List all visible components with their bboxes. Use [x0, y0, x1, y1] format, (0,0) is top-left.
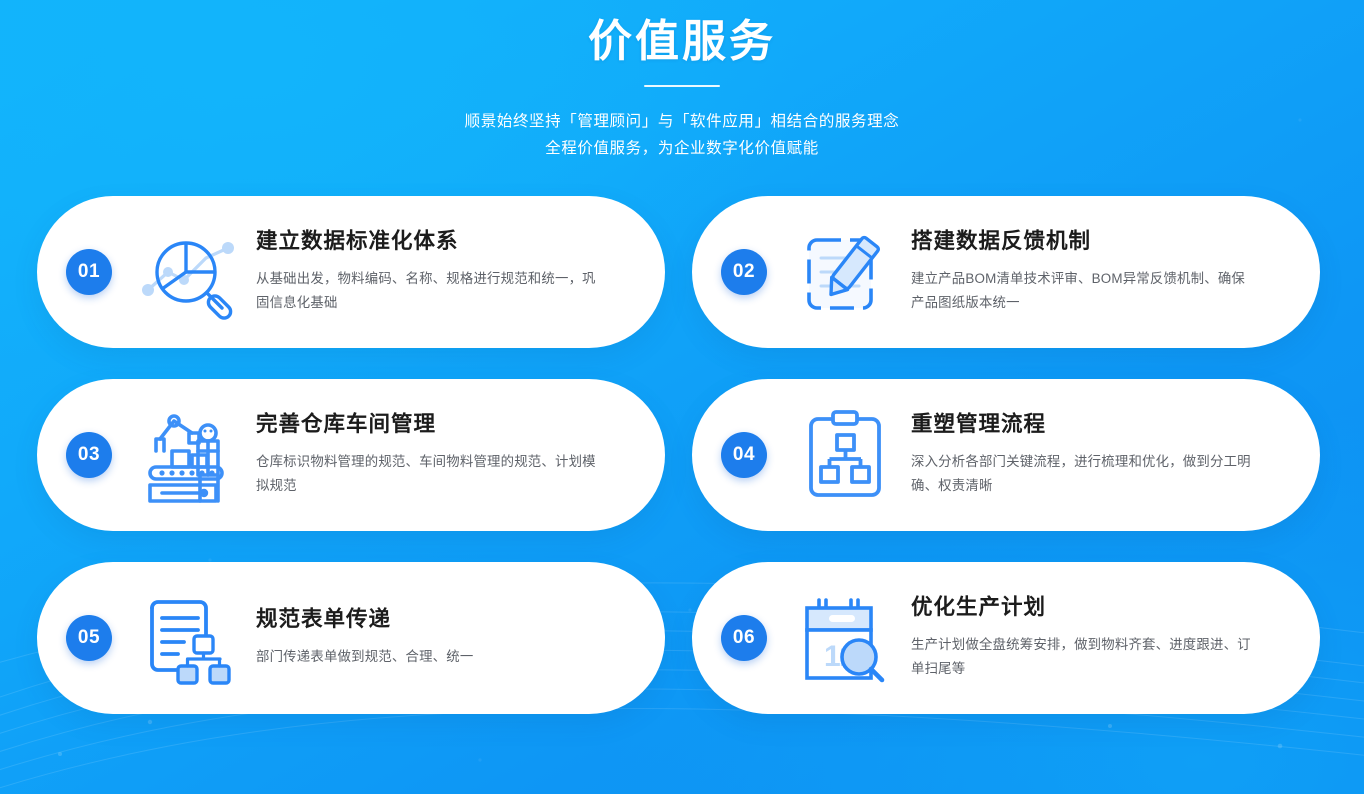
page-title: 价值服务 [0, 14, 1364, 69]
document-pencil-icon [789, 220, 901, 324]
service-card[interactable]: 03 [37, 379, 665, 531]
card-text: 规范表单传递 部门传递表单做到规范、合理、统一 [256, 607, 665, 670]
card-number-badge: 01 [66, 249, 112, 295]
factory-worker-icon [134, 403, 246, 507]
card-description: 部门传递表单做到规范、合理、统一 [256, 645, 601, 669]
card-text: 完善仓库车间管理 仓库标识物料管理的规范、车间物料管理的规范、计划模拟规范 [256, 412, 665, 499]
document-flowchart-icon [134, 586, 246, 690]
calendar-search-icon: 11 [789, 586, 901, 690]
card-title: 优化生产计划 [911, 595, 1290, 621]
card-number-badge: 05 [66, 615, 112, 661]
service-card[interactable]: 02 搭建数据反馈机制 建立产品BOM清单技术评审、BOM异常反馈机制、确保 [692, 196, 1320, 348]
value-services-page: 价值服务 顺景始终坚持「管理顾问」与「软件应用」相结合的服务理念 全程价值服务，… [0, 0, 1364, 794]
card-number-badge: 03 [66, 432, 112, 478]
card-text: 重塑管理流程 深入分析各部门关键流程，进行梳理和优化，做到分工明确、权责清晰 [911, 412, 1320, 499]
card-text: 优化生产计划 生产计划做全盘统筹安排，做到物料齐套、进度跟进、订单扫尾等 [911, 595, 1320, 682]
card-text: 建立数据标准化体系 从基础出发，物料编码、名称、规格进行规范和统一，巩固信息化基… [256, 229, 665, 316]
service-card[interactable]: 05 [37, 562, 665, 714]
clipboard-flowchart-icon [789, 403, 901, 507]
card-title: 规范表单传递 [256, 607, 635, 633]
card-number-badge: 04 [721, 432, 767, 478]
card-number-badge: 02 [721, 249, 767, 295]
card-number-badge: 06 [721, 615, 767, 661]
pie-chart-search-icon [134, 220, 246, 324]
card-title: 建立数据标准化体系 [256, 229, 635, 255]
service-card[interactable]: 04 重塑管理流程 深入分析各部门关键流程，进行梳理和优化，做到分工明确、权责清… [692, 379, 1320, 531]
card-description: 从基础出发，物料编码、名称、规格进行规范和统一，巩固信息化基础 [256, 267, 596, 315]
card-title: 搭建数据反馈机制 [911, 229, 1290, 255]
service-card[interactable]: 01 [37, 196, 665, 348]
card-description: 仓库标识物料管理的规范、车间物料管理的规范、计划模拟规范 [256, 450, 601, 498]
subtitle-line-2: 全程价值服务，为企业数字化价值赋能 [0, 135, 1364, 162]
card-description: 建立产品BOM清单技术评审、BOM异常反馈机制、确保产品图纸版本统一 [911, 267, 1256, 315]
card-description: 深入分析各部门关键流程，进行梳理和优化，做到分工明确、权责清晰 [911, 450, 1256, 498]
card-title: 重塑管理流程 [911, 412, 1290, 438]
card-title: 完善仓库车间管理 [256, 412, 635, 438]
service-card[interactable]: 06 11 优化生产计划 [692, 562, 1320, 714]
subtitle-line-1: 顺景始终坚持「管理顾问」与「软件应用」相结合的服务理念 [0, 108, 1364, 135]
page-subtitle: 顺景始终坚持「管理顾问」与「软件应用」相结合的服务理念 全程价值服务，为企业数字… [0, 108, 1364, 162]
page-header: 价值服务 顺景始终坚持「管理顾问」与「软件应用」相结合的服务理念 全程价值服务，… [0, 0, 1364, 162]
card-text: 搭建数据反馈机制 建立产品BOM清单技术评审、BOM异常反馈机制、确保产品图纸版… [911, 229, 1320, 316]
service-card-grid: 01 [37, 196, 1327, 714]
title-divider [644, 85, 720, 87]
card-description: 生产计划做全盘统筹安排，做到物料齐套、进度跟进、订单扫尾等 [911, 633, 1256, 681]
